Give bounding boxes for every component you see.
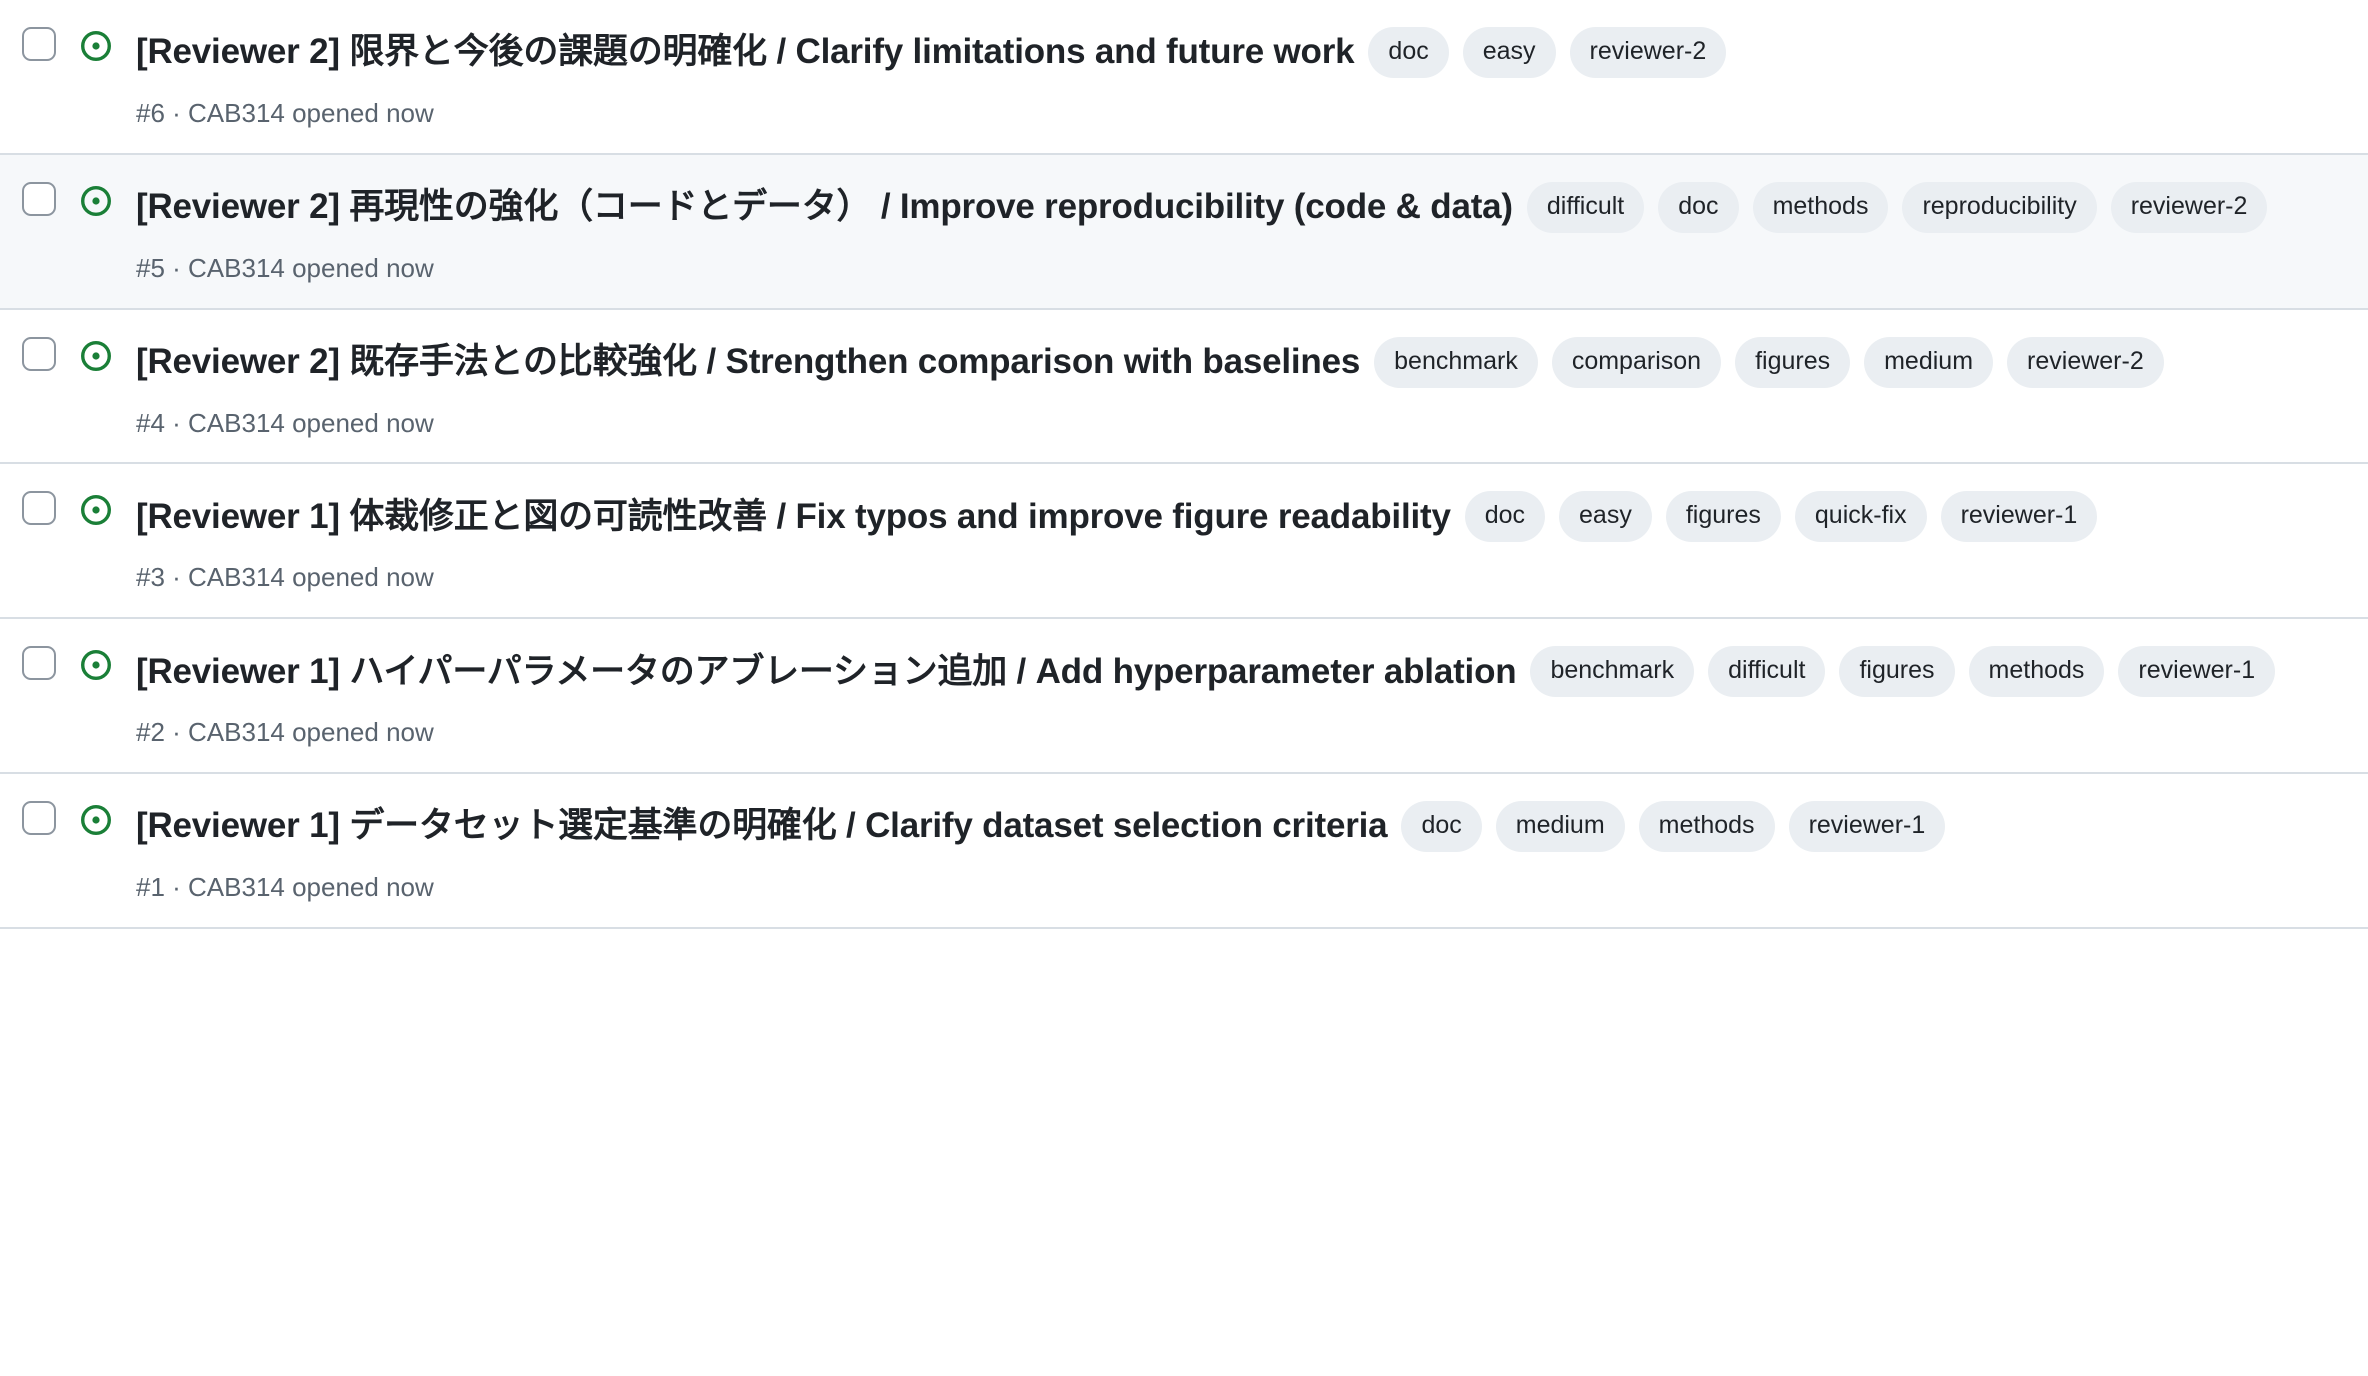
issue-row[interactable]: [Reviewer 2] 既存手法との比較強化 / Strengthen com… [0,310,2368,465]
open-issue-icon [78,338,114,374]
issue-select-checkbox[interactable] [22,182,56,216]
issue-label[interactable]: figures [1666,491,1781,542]
issue-label[interactable]: reviewer-2 [2007,337,2164,388]
issue-label[interactable]: benchmark [1530,646,1694,697]
open-issue-icon [78,647,114,683]
issue-row[interactable]: [Reviewer 1] ハイパーパラメータのアブレーション追加 / Add h… [0,619,2368,774]
issue-content: [Reviewer 1] 体裁修正と図の可読性改善 / Fix typos an… [136,486,2340,595]
issue-label[interactable]: reviewer-1 [2118,646,2275,697]
issue-content: [Reviewer 1] ハイパーパラメータのアブレーション追加 / Add h… [136,641,2340,750]
issue-metadata: #6 · CAB314 opened now [136,97,2340,131]
issue-metadata: #3 · CAB314 opened now [136,561,2340,595]
issue-title-line: [Reviewer 2] 既存手法との比較強化 / Strengthen com… [136,332,2340,393]
issue-label[interactable]: methods [1639,801,1775,852]
issue-metadata: #2 · CAB314 opened now [136,716,2340,750]
issue-label[interactable]: figures [1839,646,1954,697]
issue-title-link[interactable]: [Reviewer 2] 限界と今後の課題の明確化 / Clarify limi… [136,29,1354,75]
issue-content: [Reviewer 2] 再現性の強化（コードとデータ） / Improve r… [136,177,2340,286]
issue-metadata: #4 · CAB314 opened now [136,407,2340,441]
issue-select-checkbox[interactable] [22,27,56,61]
issue-label[interactable]: methods [1969,646,2105,697]
issue-list: [Reviewer 2] 限界と今後の課題の明確化 / Clarify limi… [0,0,2368,929]
issue-label[interactable]: difficult [1527,182,1644,233]
issue-label[interactable]: reviewer-2 [2111,182,2268,233]
issue-row[interactable]: [Reviewer 1] 体裁修正と図の可読性改善 / Fix typos an… [0,464,2368,619]
issue-title-link[interactable]: [Reviewer 1] ハイパーパラメータのアブレーション追加 / Add h… [136,649,1516,695]
issue-title-line: [Reviewer 1] データセット選定基準の明確化 / Clarify da… [136,796,2340,857]
issue-label[interactable]: doc [1658,182,1738,233]
issue-label[interactable]: quick-fix [1795,491,1927,542]
issue-title-link[interactable]: [Reviewer 2] 既存手法との比較強化 / Strengthen com… [136,339,1360,385]
issue-label[interactable]: doc [1368,27,1448,78]
issue-label[interactable]: difficult [1708,646,1825,697]
issue-row[interactable]: [Reviewer 2] 再現性の強化（コードとデータ） / Improve r… [0,155,2368,310]
issue-label[interactable]: reviewer-1 [1941,491,2098,542]
open-issue-icon [78,492,114,528]
issue-select-checkbox[interactable] [22,801,56,835]
issue-title-link[interactable]: [Reviewer 1] データセット選定基準の明確化 / Clarify da… [136,803,1387,849]
issue-label[interactable]: figures [1735,337,1850,388]
issue-title-line: [Reviewer 1] 体裁修正と図の可読性改善 / Fix typos an… [136,486,2340,547]
issue-label[interactable]: easy [1463,27,1556,78]
issue-row[interactable]: [Reviewer 1] データセット選定基準の明確化 / Clarify da… [0,774,2368,929]
open-issue-icon [78,183,114,219]
issue-label[interactable]: medium [1864,337,1993,388]
issue-label[interactable]: reviewer-2 [1570,27,1727,78]
issue-label[interactable]: doc [1401,801,1481,852]
issue-content: [Reviewer 1] データセット選定基準の明確化 / Clarify da… [136,796,2340,905]
issue-title-line: [Reviewer 2] 再現性の強化（コードとデータ） / Improve r… [136,177,2340,238]
issue-content: [Reviewer 2] 限界と今後の課題の明確化 / Clarify limi… [136,22,2340,131]
issue-metadata: #5 · CAB314 opened now [136,252,2340,286]
issue-label[interactable]: reviewer-1 [1789,801,1946,852]
issue-metadata: #1 · CAB314 opened now [136,871,2340,905]
issue-row[interactable]: [Reviewer 2] 限界と今後の課題の明確化 / Clarify limi… [0,0,2368,155]
issue-label[interactable]: comparison [1552,337,1721,388]
issue-select-checkbox[interactable] [22,491,56,525]
issue-title-line: [Reviewer 2] 限界と今後の課題の明確化 / Clarify limi… [136,22,2340,83]
issue-select-checkbox[interactable] [22,337,56,371]
issue-label[interactable]: methods [1753,182,1889,233]
issue-label[interactable]: reproducibility [1902,182,2096,233]
open-issue-icon [78,28,114,64]
issue-label[interactable]: easy [1559,491,1652,542]
issue-label[interactable]: doc [1465,491,1545,542]
issue-label[interactable]: medium [1496,801,1625,852]
open-issue-icon [78,802,114,838]
issue-title-link[interactable]: [Reviewer 1] 体裁修正と図の可読性改善 / Fix typos an… [136,494,1451,540]
issue-title-link[interactable]: [Reviewer 2] 再現性の強化（コードとデータ） / Improve r… [136,184,1513,230]
issue-title-line: [Reviewer 1] ハイパーパラメータのアブレーション追加 / Add h… [136,641,2340,702]
issue-content: [Reviewer 2] 既存手法との比較強化 / Strengthen com… [136,332,2340,441]
issue-select-checkbox[interactable] [22,646,56,680]
issue-label[interactable]: benchmark [1374,337,1538,388]
